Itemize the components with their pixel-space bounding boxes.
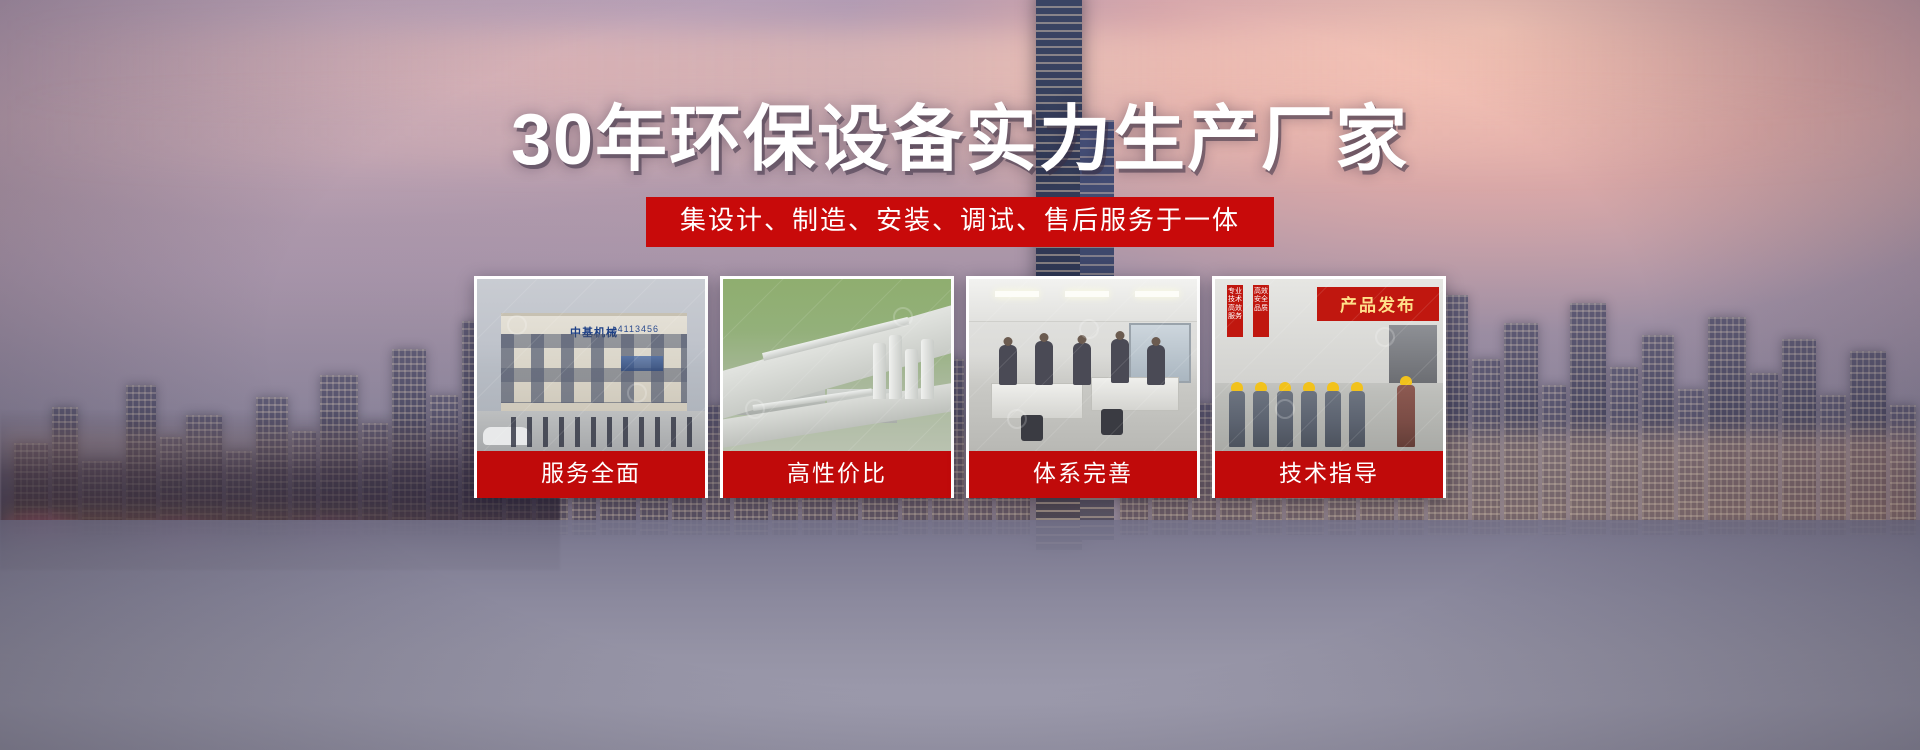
workshop-side-banner-right: 高效 安全 品质 bbox=[1253, 285, 1269, 337]
card-caption: 高性价比 bbox=[723, 451, 951, 498]
feature-card-list: 中基机械 4113456 bbox=[474, 276, 1446, 498]
workshop-banner: 产品发布 bbox=[1317, 287, 1439, 321]
card-photo: 中基机械 4113456 bbox=[477, 279, 705, 451]
photo-workshop-team: 专业 技术高效 服务 高效 安全 品质 产品发布 bbox=[1215, 279, 1443, 451]
feature-card[interactable]: 中基机械 4113456 bbox=[474, 276, 708, 498]
workshop-side-banner-left: 专业 技术高效 服务 bbox=[1227, 285, 1243, 337]
banner-headline: 30年环保设备实力生产厂家 bbox=[511, 104, 1409, 176]
card-photo bbox=[723, 279, 951, 451]
feature-card[interactable]: 体系完善 bbox=[966, 276, 1200, 498]
photo-office-interior bbox=[969, 279, 1197, 451]
feature-card[interactable]: 高性价比 bbox=[720, 276, 954, 498]
banner-content: 30年环保设备实力生产厂家 集设计、制造、安装、调试、售后服务于一体 中基机械 … bbox=[0, 0, 1920, 750]
feature-card[interactable]: 专业 技术高效 服务 高效 安全 品质 产品发布 bbox=[1212, 276, 1446, 498]
photo-office-building: 中基机械 4113456 bbox=[477, 279, 705, 451]
card-caption: 服务全面 bbox=[477, 451, 705, 498]
banner-subtitle-bar: 集设计、制造、安装、调试、售后服务于一体 bbox=[646, 197, 1274, 247]
card-caption: 体系完善 bbox=[969, 451, 1197, 498]
hero-banner: 30年环保设备实力生产厂家 集设计、制造、安装、调试、售后服务于一体 中基机械 … bbox=[0, 0, 1920, 750]
card-caption: 技术指导 bbox=[1215, 451, 1443, 498]
photo-production-plant bbox=[723, 279, 951, 451]
card-photo bbox=[969, 279, 1197, 451]
card-photo: 专业 技术高效 服务 高效 安全 品质 产品发布 bbox=[1215, 279, 1443, 451]
building-phone-number: 4113456 bbox=[618, 324, 659, 334]
